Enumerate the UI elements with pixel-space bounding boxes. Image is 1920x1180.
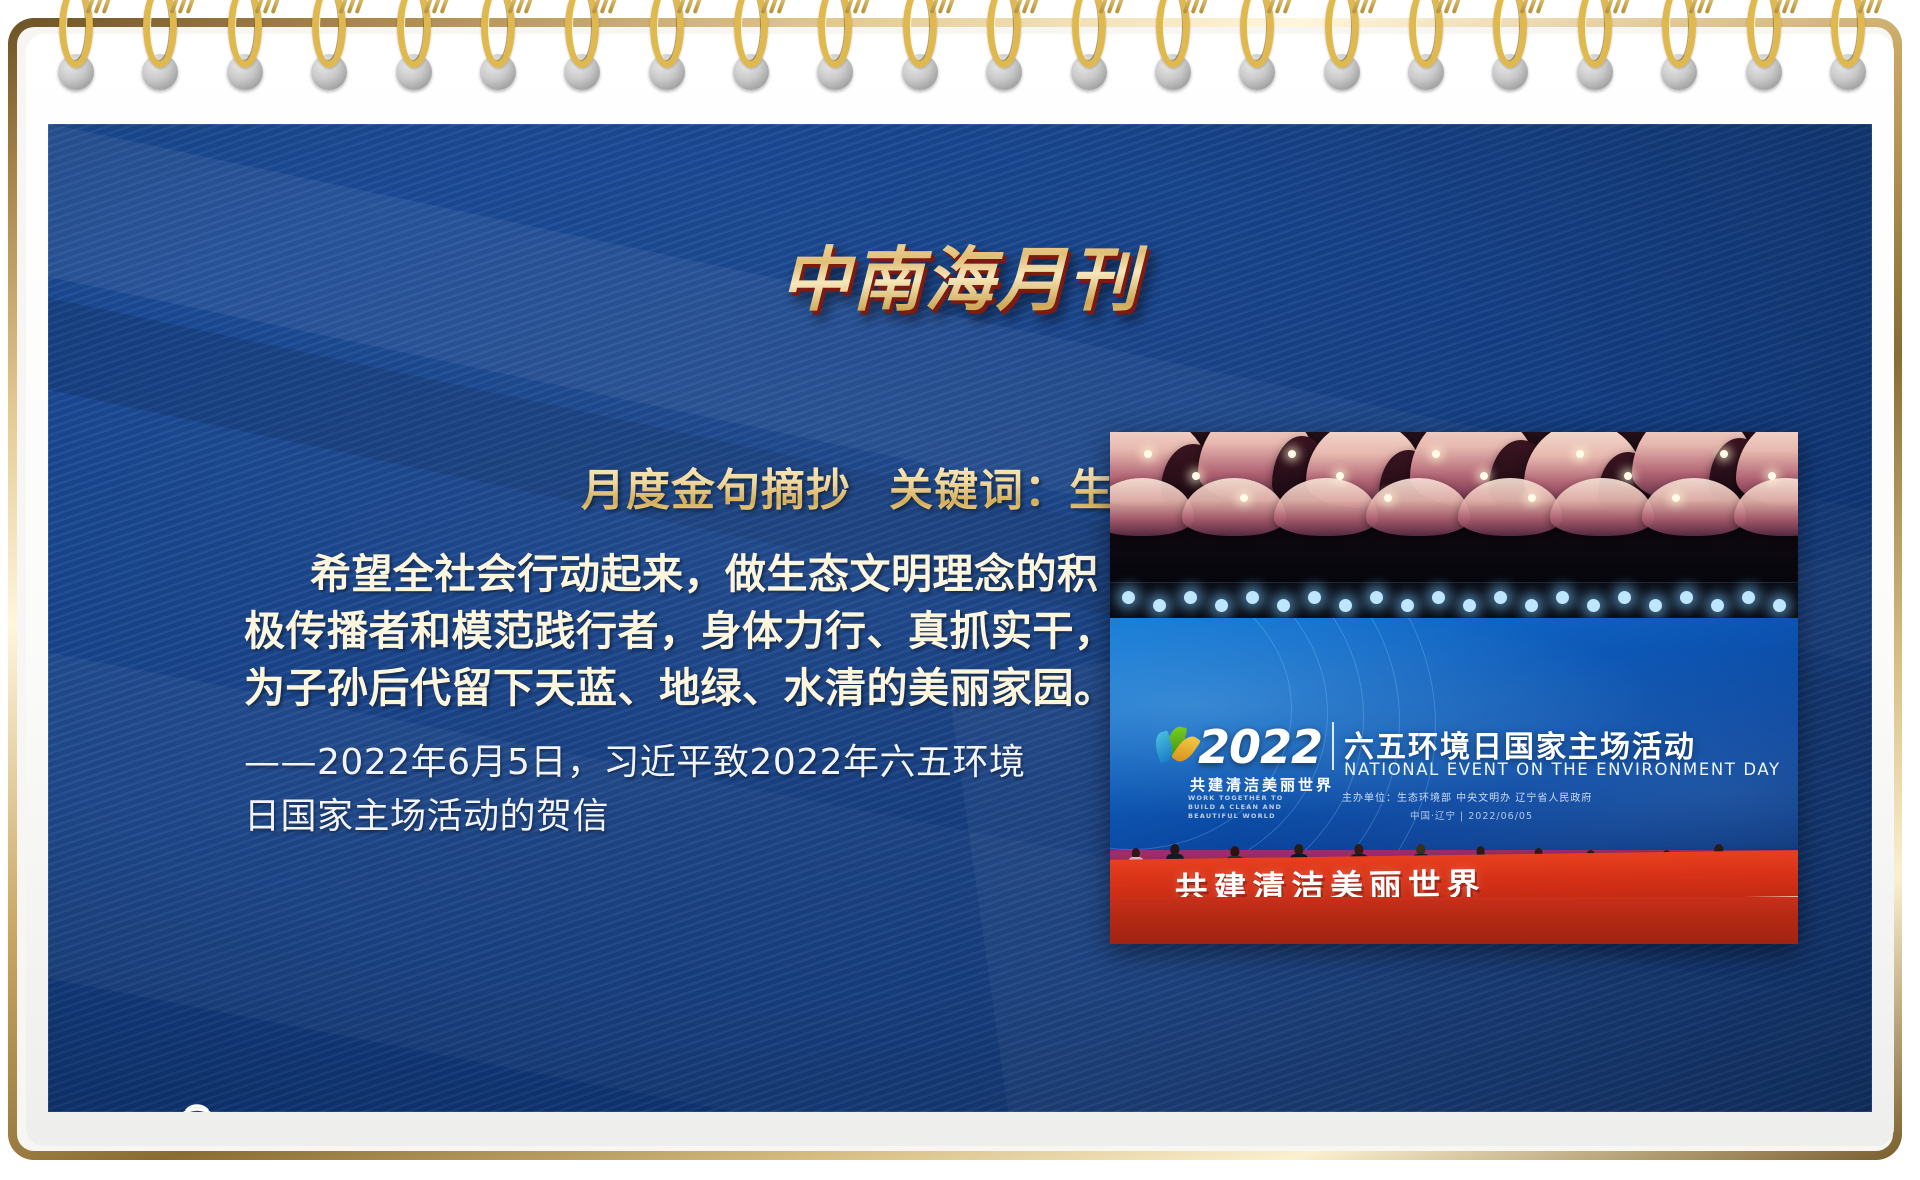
stage-spotlight bbox=[1525, 599, 1538, 612]
stage-spotlight bbox=[1184, 591, 1197, 604]
photo-red-carpet bbox=[1110, 897, 1798, 944]
quote-line: 为子孙后代留下天蓝、地绿、水清的美丽家园。 bbox=[244, 660, 1056, 717]
ceiling-light bbox=[1384, 494, 1392, 502]
stage-spotlight bbox=[1494, 591, 1507, 604]
stage-spotlight bbox=[1587, 599, 1600, 612]
ceiling-light bbox=[1528, 494, 1536, 502]
photo-light-truss bbox=[1110, 582, 1798, 621]
stage-spotlight bbox=[1246, 591, 1259, 604]
photo-led-screen: 2022 共建清洁美丽世界 WORK TOGETHER TO BUILD A C… bbox=[1110, 618, 1798, 850]
event-photo: 2022 共建清洁美丽世界 WORK TOGETHER TO BUILD A C… bbox=[1110, 432, 1798, 944]
stage-spotlight bbox=[1122, 591, 1135, 604]
stage-spotlight bbox=[1711, 599, 1724, 612]
attribution-line: 日国家主场活动的贺信 bbox=[244, 790, 1074, 844]
ceiling-light bbox=[1240, 494, 1248, 502]
stage-spotlight bbox=[1649, 599, 1662, 612]
ceiling-light bbox=[1768, 472, 1776, 480]
ceiling-light bbox=[1144, 450, 1152, 458]
ceiling-light bbox=[1192, 472, 1200, 480]
ceiling-light bbox=[1576, 450, 1584, 458]
slide-canvas: 中南海月刊 月度金句摘抄关键词：生态文明建设 希望全社会行动起来，做生态文明理念… bbox=[48, 124, 1872, 1112]
quote-line: 希望全社会行动起来，做生态文明理念的积 bbox=[244, 546, 1056, 603]
stage-spotlight bbox=[1153, 599, 1166, 612]
quote-line: 极传播者和模范践行者，身体力行、真抓实干， bbox=[244, 603, 1056, 660]
screen-wave-decor bbox=[1110, 618, 1436, 850]
stage-spotlight bbox=[1277, 599, 1290, 612]
stage-spotlight bbox=[1401, 599, 1414, 612]
ceiling-light bbox=[1288, 450, 1296, 458]
stage-spotlight bbox=[1556, 591, 1569, 604]
ceiling-light bbox=[1480, 472, 1488, 480]
screen-location-date: 中国·辽宁 | 2022/06/05 bbox=[1410, 808, 1533, 822]
subtitle-left-text: 月度金句摘抄 bbox=[581, 465, 851, 516]
photo-ceiling bbox=[1110, 432, 1798, 587]
notebook-frame: 中南海月刊 月度金句摘抄关键词：生态文明建设 希望全社会行动起来，做生态文明理念… bbox=[0, 0, 1920, 1180]
page-title: 中南海月刊 bbox=[48, 224, 1872, 325]
stage-spotlight bbox=[1308, 591, 1321, 604]
ceiling-light bbox=[1336, 472, 1344, 480]
stage-spotlight bbox=[1773, 599, 1786, 612]
quote-block: 希望全社会行动起来，做生态文明理念的积 极传播者和模范践行者，身体力行、真抓实干… bbox=[244, 546, 1056, 717]
ceiling-light bbox=[1672, 494, 1680, 502]
stage-spotlight bbox=[1463, 599, 1476, 612]
stage-spotlight bbox=[1680, 591, 1693, 604]
quote-attribution: ——2022年6月5日，习近平致2022年六五环境 日国家主场活动的贺信 bbox=[244, 736, 1074, 844]
stage-spotlight bbox=[1215, 599, 1228, 612]
ceiling-light bbox=[1432, 450, 1440, 458]
ceiling-light bbox=[1624, 472, 1632, 480]
stage-spotlight bbox=[1432, 591, 1445, 604]
stage-spotlight bbox=[1618, 591, 1631, 604]
stage-spotlight bbox=[1339, 599, 1352, 612]
stage-spotlight bbox=[1742, 591, 1755, 604]
attribution-line: ——2022年6月5日，习近平致2022年六五环境 bbox=[244, 736, 1074, 790]
stage-spotlight bbox=[1370, 591, 1383, 604]
tap-hand-icon[interactable] bbox=[166, 1086, 240, 1112]
ceiling-light bbox=[1720, 450, 1728, 458]
